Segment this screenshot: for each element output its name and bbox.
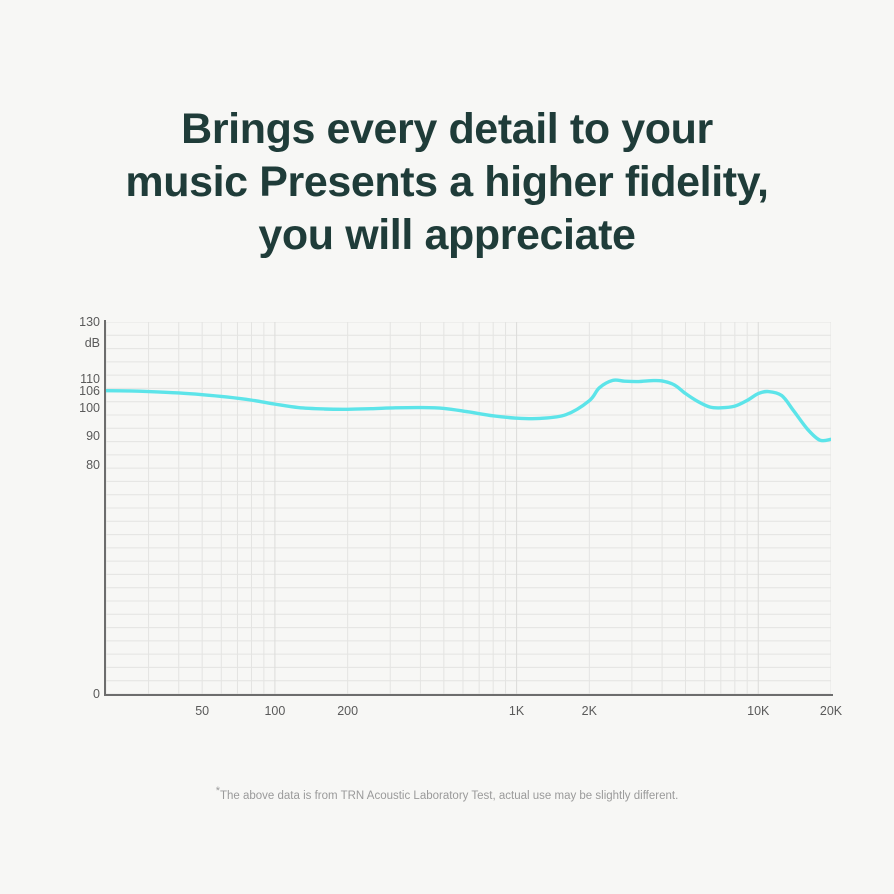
y-axis-line [104, 320, 106, 696]
chart-footnote: *The above data is from TRN Acoustic Lab… [0, 790, 894, 802]
x-axis-line [104, 694, 833, 696]
y-axis-tick-label: 130 [60, 316, 100, 328]
x-axis-tick-label: 20K [820, 704, 842, 718]
page-title: Brings every detail to your music Presen… [47, 103, 847, 262]
page-title-line-2: music Presents a higher fidelity, [47, 156, 847, 209]
x-axis-tick-label: 1K [509, 704, 524, 718]
promo-page: Brings every detail to your music Presen… [0, 0, 894, 894]
y-axis-tick-label: 106 [60, 385, 100, 397]
footnote-text: The above data is from TRN Acoustic Labo… [220, 790, 678, 802]
y-axis-tick-label: 0 [60, 688, 100, 700]
y-axis-tick-label: 100 [60, 402, 100, 414]
chart-plot-area [106, 322, 831, 694]
x-axis-labels: 501002001K2K10K20K [0, 704, 894, 728]
y-axis-tick-label: 80 [60, 459, 100, 471]
y-axis-labels: 13011010610090800dB [56, 300, 100, 700]
page-title-line-1: Brings every detail to your [47, 103, 847, 156]
page-title-line-3: you will appreciate [47, 209, 847, 262]
chart-svg [106, 322, 831, 694]
frequency-response-chart: 13011010610090800dB 501002001K2K10K20K [0, 300, 894, 760]
x-axis-tick-label: 100 [264, 704, 285, 718]
x-axis-tick-label: 10K [747, 704, 769, 718]
y-axis-unit-label: dB [60, 337, 100, 349]
x-axis-tick-label: 200 [337, 704, 358, 718]
x-axis-tick-label: 2K [582, 704, 597, 718]
y-axis-tick-label: 90 [60, 430, 100, 442]
x-axis-tick-label: 50 [195, 704, 209, 718]
